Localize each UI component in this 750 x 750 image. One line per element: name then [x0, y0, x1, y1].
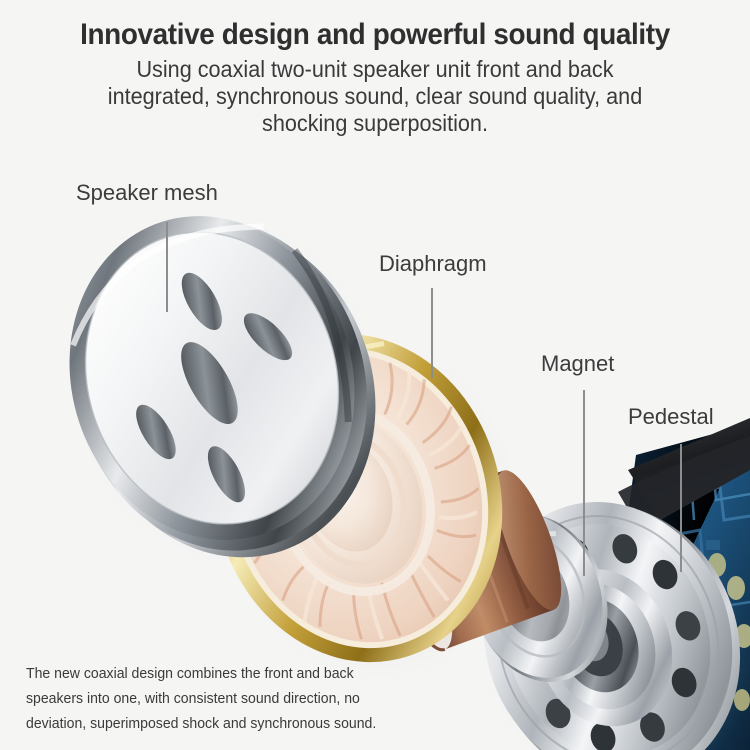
exploded-speaker-illustration [0, 0, 750, 750]
footer-description: The new coaxial design combines the fron… [26, 662, 482, 737]
callout-label-speaker-mesh: Speaker mesh [76, 180, 218, 206]
callout-label-magnet: Magnet [541, 351, 614, 377]
infographic-canvas: Innovative design and powerful sound qua… [0, 0, 750, 750]
footer-line-2: speakers into one, with consistent sound… [26, 687, 482, 712]
callout-label-pedestal: Pedestal [628, 404, 714, 430]
footer-line-3: deviation, superimposed shock and synchr… [26, 712, 482, 737]
footer-line-1: The new coaxial design combines the fron… [26, 662, 482, 687]
callout-label-diaphragm: Diaphragm [379, 251, 487, 277]
